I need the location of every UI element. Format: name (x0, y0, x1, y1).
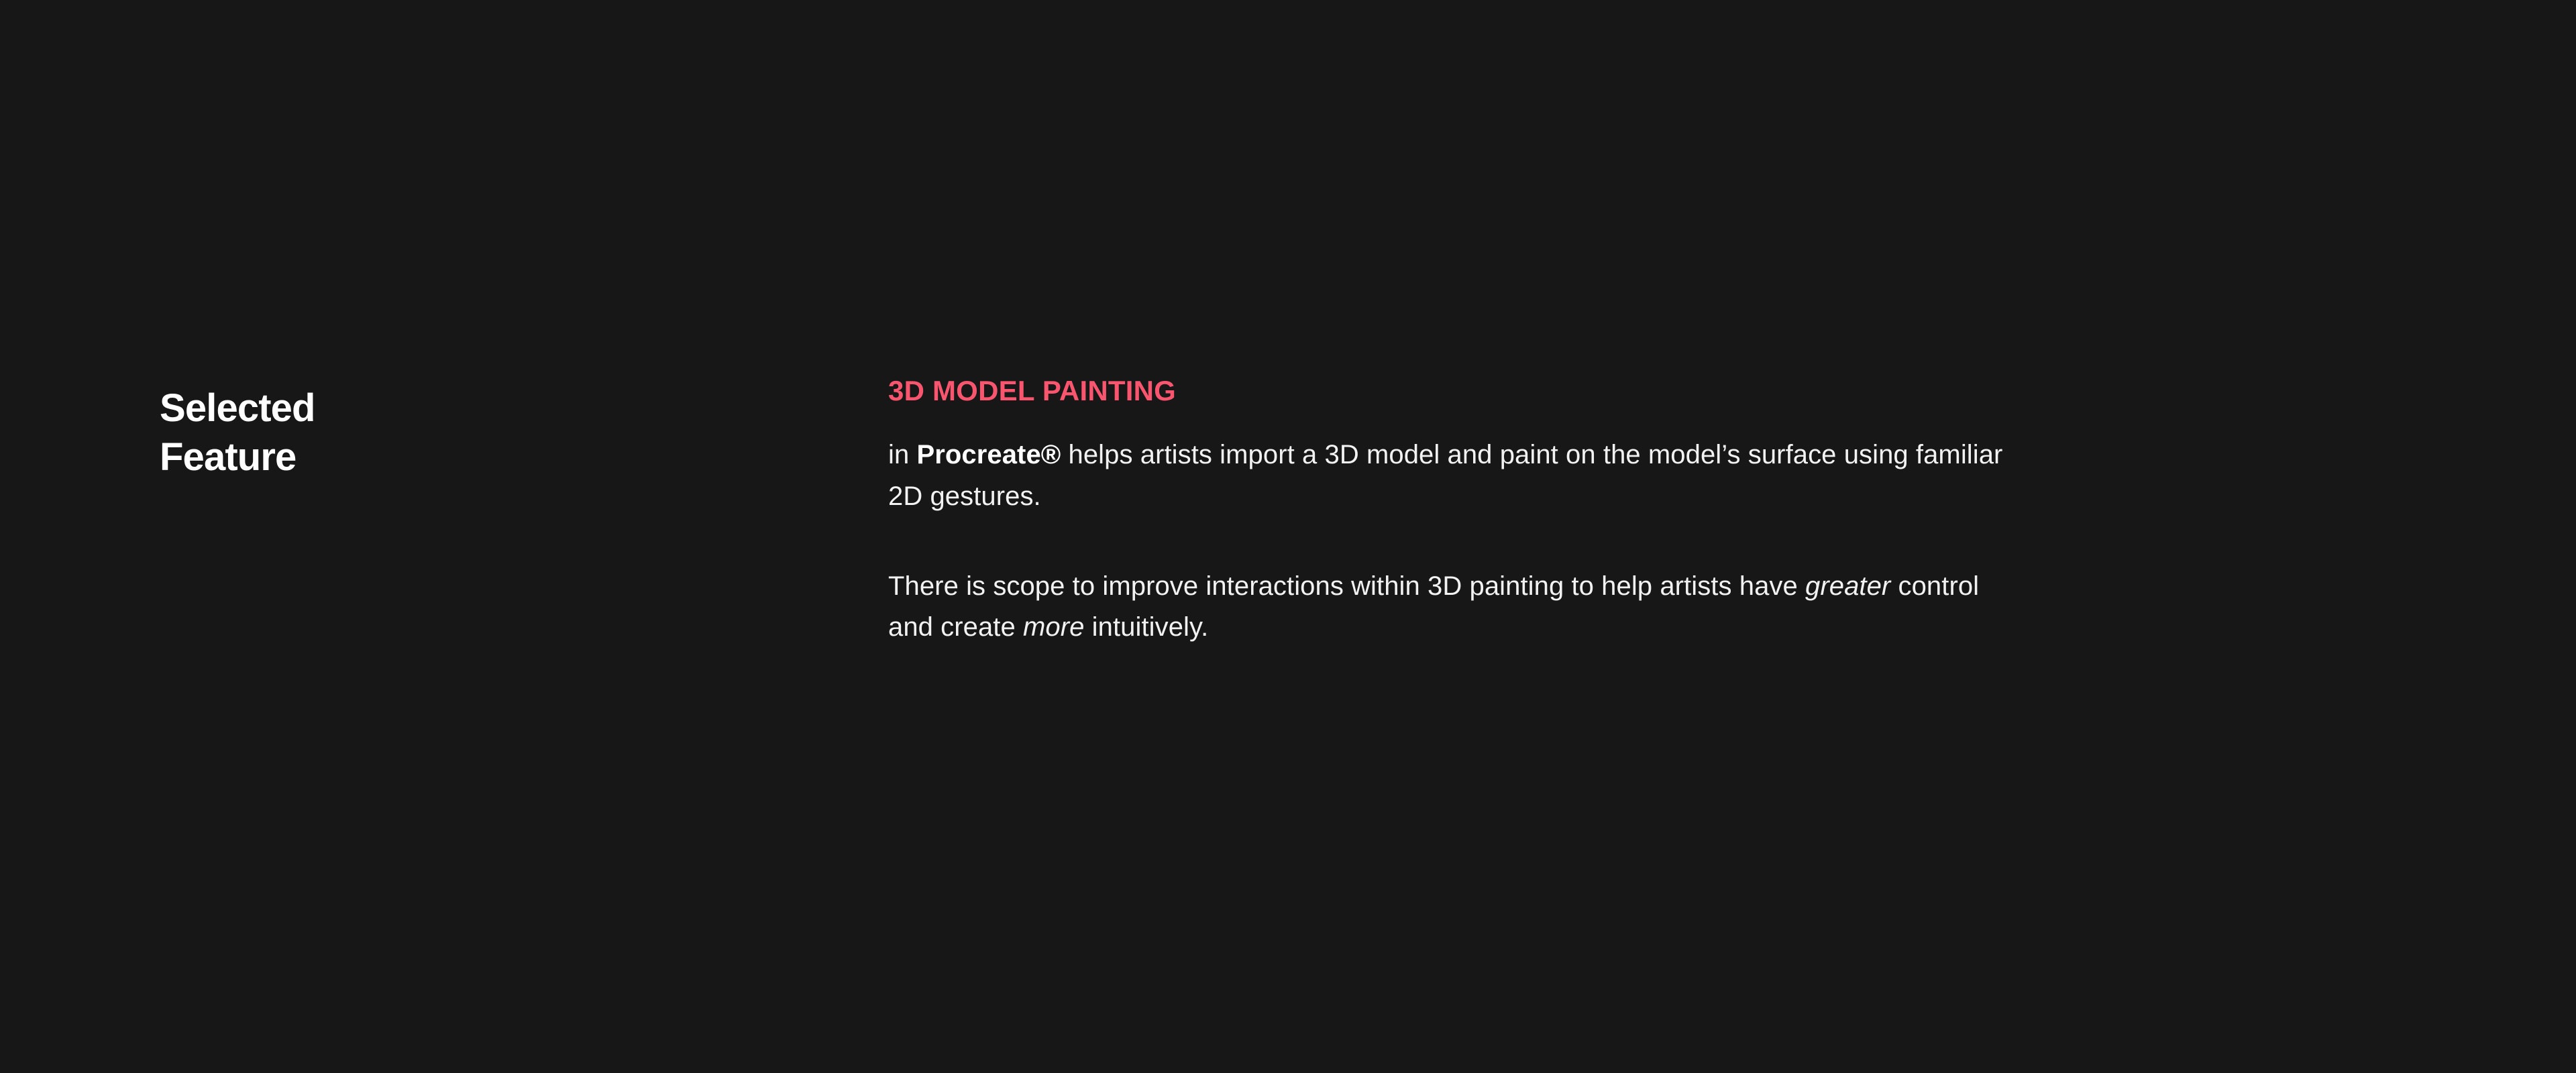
feature-opportunity-paragraph: There is scope to improve interactions w… (888, 566, 2029, 648)
section-label-line-2: Feature (160, 433, 710, 482)
paragraph2-part3: intuitively. (1084, 612, 1208, 642)
procreate-brand-name: Procreate® (917, 440, 1061, 469)
slide-canvas: Selected Feature 3D MODEL PAINTING in Pr… (0, 0, 2576, 1073)
section-label-line-1: Selected (160, 384, 710, 433)
selected-feature-label-block: Selected Feature (160, 384, 710, 482)
feature-content-block: 3D MODEL PAINTING in Procreate® helps ar… (888, 374, 2069, 648)
section-label: Selected Feature (160, 384, 710, 482)
paragraph2-part1: There is scope to improve interactions w… (888, 571, 1805, 601)
paragraph2-italic-more: more (1023, 612, 1084, 642)
paragraph1-lead: in (888, 440, 917, 469)
paragraph2-italic-greater: greater (1805, 571, 1890, 601)
feature-description-paragraph: in Procreate® helps artists import a 3D … (888, 435, 2029, 517)
feature-heading: 3D MODEL PAINTING (888, 374, 2069, 408)
